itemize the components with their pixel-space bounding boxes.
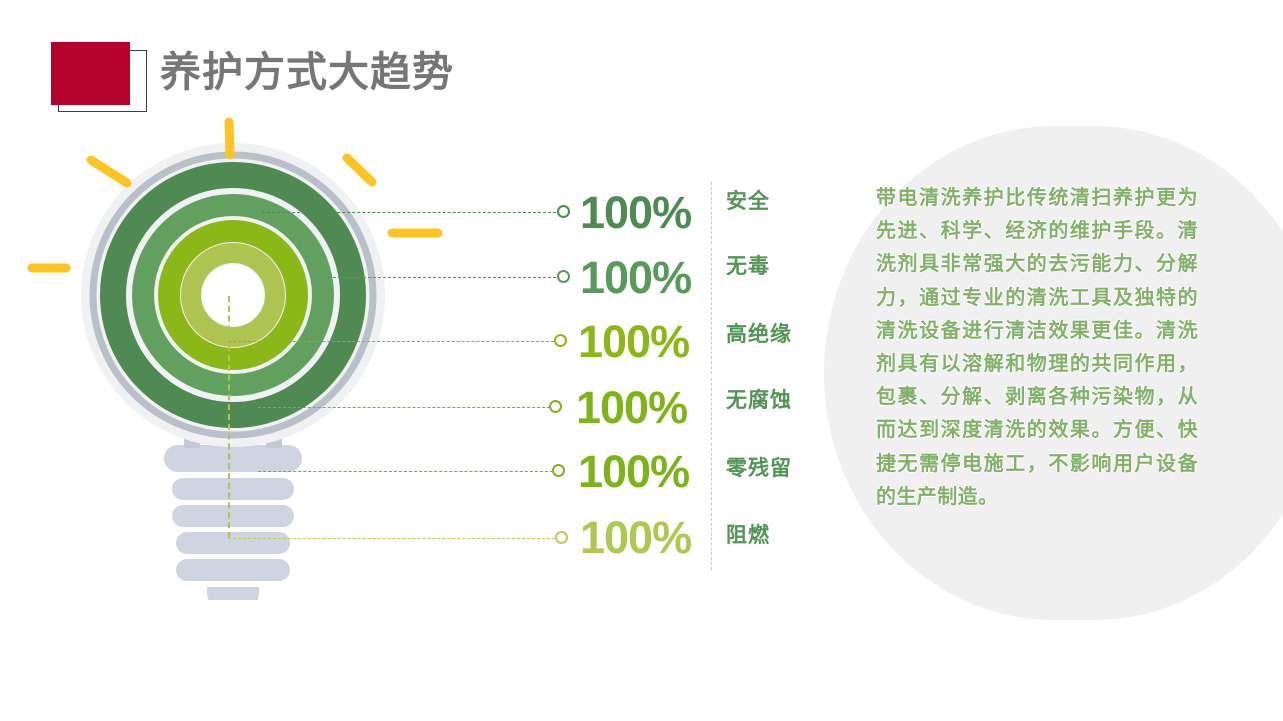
connector-line-3 [228,341,554,342]
marker-dot-5 [552,464,565,477]
marker-dot-2 [557,270,570,283]
slide-canvas: 养护方式大趋势 [0,0,1283,721]
marker-dot-1 [557,205,570,218]
metric-value-1: 100% [580,190,691,235]
connector-line-5 [258,471,553,472]
metric-value-4: 100% [576,385,687,430]
metric-value-6: 100% [580,515,691,560]
bulb-base-icon [164,445,302,600]
row-divider-1 [711,182,712,244]
connector-line-6 [228,538,555,539]
metric-value-5: 100% [578,449,689,494]
marker-dot-6 [555,531,568,544]
marker-dot-4 [549,400,562,413]
row-divider-4 [711,378,712,440]
page-title: 养护方式大趋势 [160,42,454,102]
connector-line-4 [258,407,550,408]
row-divider-6 [711,508,712,570]
info-panel-body-text: 带电清洗养护比传统清扫养护更为先进、科学、经济的维护手段。清洗剂具非常强大的去污… [876,182,1198,514]
metric-value-3: 100% [578,319,689,364]
connector-line-1 [262,212,556,213]
metric-label-3: 高绝缘 [726,323,792,347]
metric-label-5: 零残留 [726,457,792,481]
ring-core-white [202,264,264,326]
metric-label-4: 无腐蚀 [726,389,792,413]
connector-line-2 [318,277,556,278]
title-accent-red-square [51,42,130,105]
bulb-center-stem-line [228,296,230,538]
row-divider-2 [711,248,712,310]
row-divider-5 [711,443,712,505]
row-divider-3 [711,312,712,374]
lightbulb-target-graphic [0,100,500,600]
metric-label-6: 阻燃 [726,524,770,548]
metric-label-2: 无毒 [726,255,770,279]
metric-value-2: 100% [580,255,691,300]
marker-dot-3 [554,334,567,347]
metric-label-1: 安全 [726,190,770,214]
